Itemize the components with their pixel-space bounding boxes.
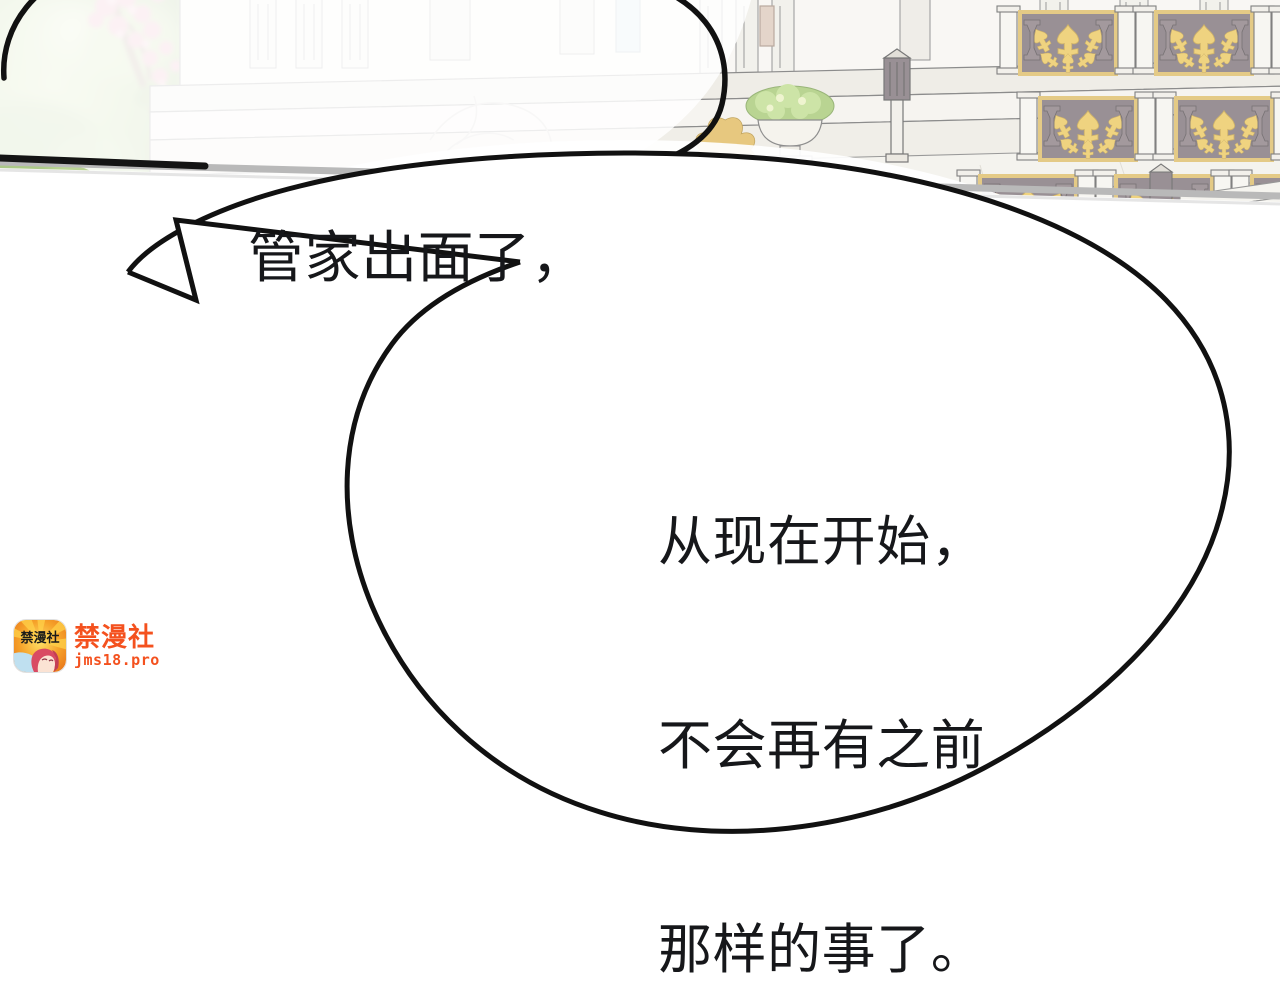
bubble-main-line-3: 那样的事了。 bbox=[658, 916, 985, 984]
speech-bubble-top-text: 管家出面了， bbox=[248, 88, 587, 428]
jms-app-icon-art: 禁漫社 bbox=[14, 620, 66, 672]
jms-app-icon: 禁漫社 bbox=[14, 620, 66, 672]
watermark-domain: jms18.pro bbox=[74, 653, 160, 668]
watermark-title: 禁漫社 bbox=[74, 624, 160, 650]
panel-illustration bbox=[0, 0, 1280, 340]
speech-bubble-main-text: 从现在开始， 不会再有之前 那样的事了。 bbox=[658, 372, 985, 1000]
comic-panel-artwork bbox=[0, 0, 1280, 340]
bubble-top-line-1: 管家出面了， bbox=[248, 224, 587, 292]
watermark[interactable]: 禁漫社 禁漫社 jms18.pro bbox=[14, 620, 160, 672]
watermark-wordmark: 禁漫社 jms18.pro bbox=[74, 624, 160, 668]
bubble-main-line-1: 从现在开始， bbox=[658, 508, 985, 576]
svg-text:禁漫社: 禁漫社 bbox=[20, 630, 59, 645]
bubble-main-line-2: 不会再有之前 bbox=[658, 712, 985, 780]
comic-page: 管家出面了， 从现在开始， 不会再有之前 那样的事了。 bbox=[0, 0, 1280, 1000]
